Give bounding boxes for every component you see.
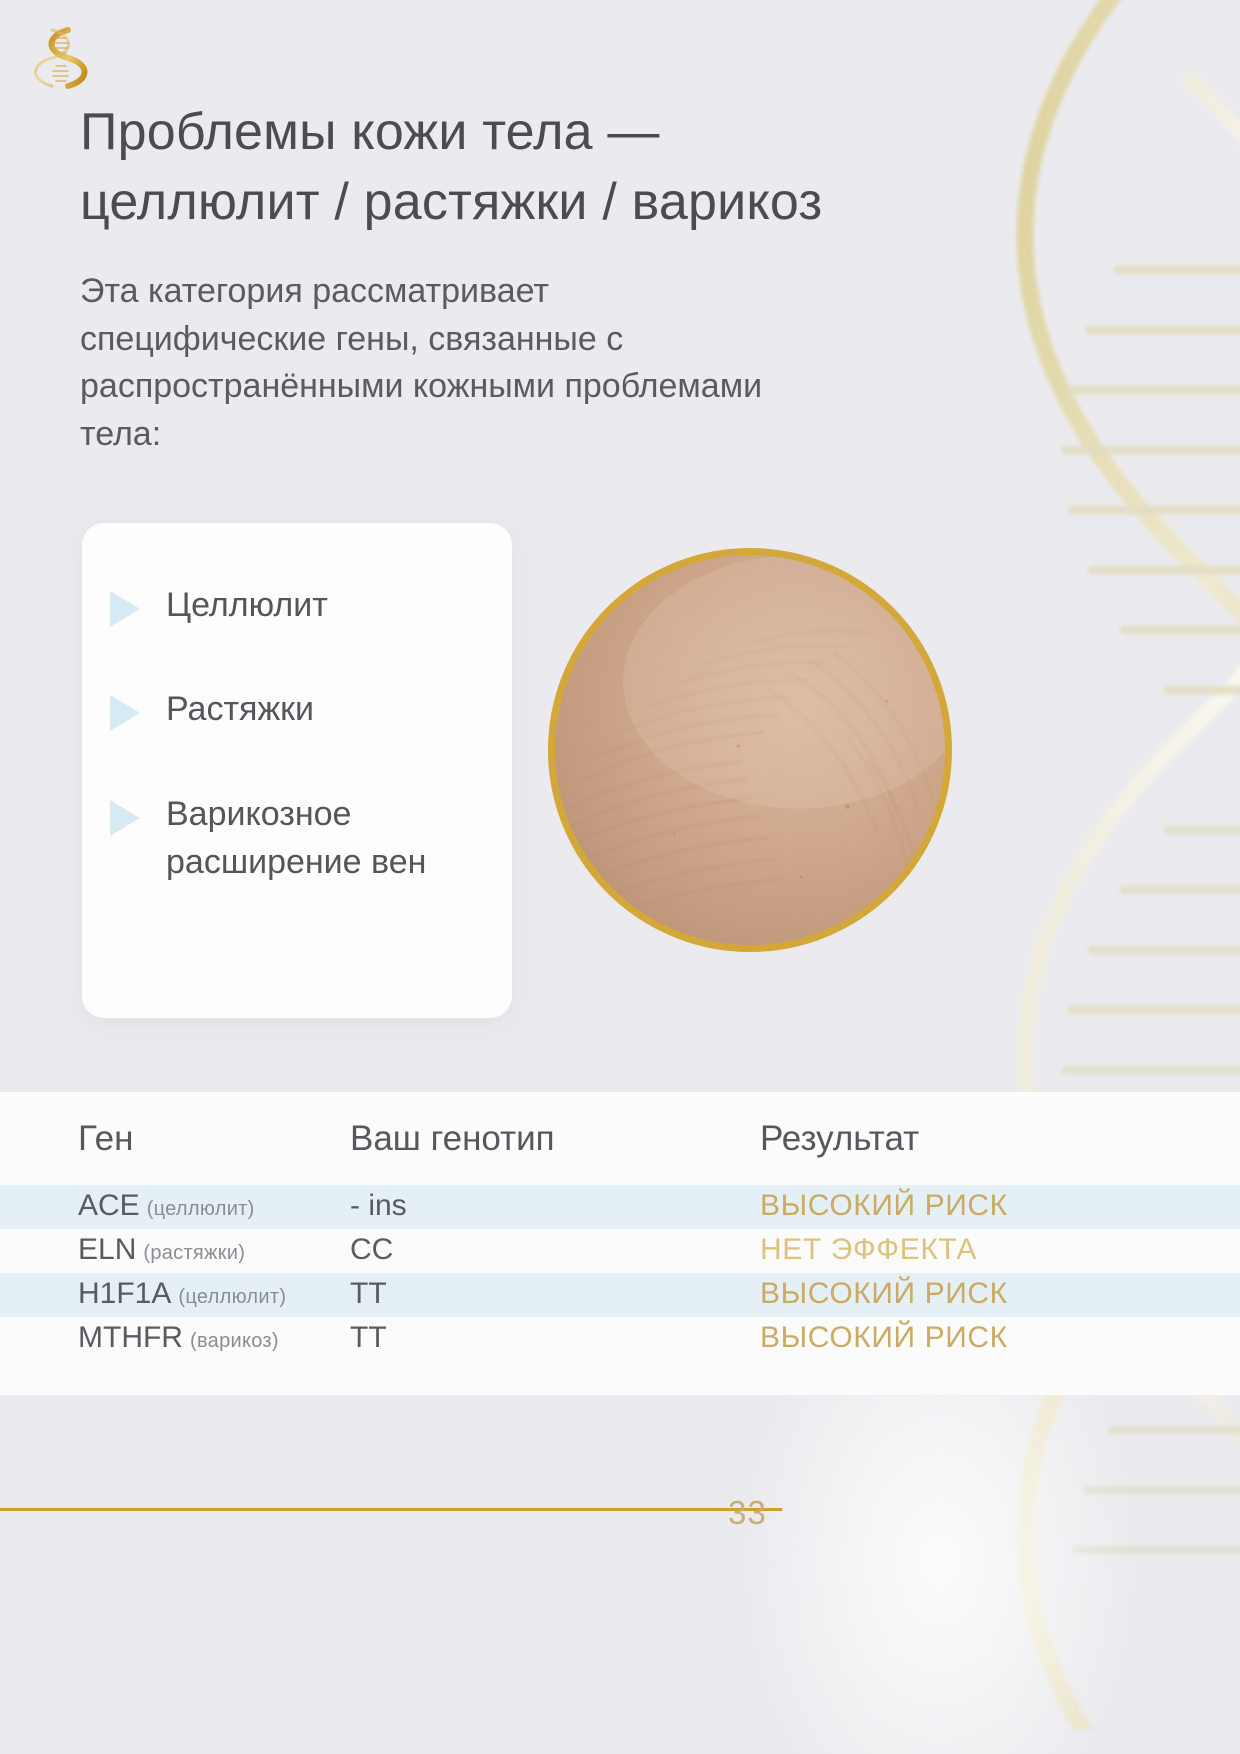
cellulite-skin-photo [548,548,952,952]
list-item: Варикозное расширение вен [110,790,478,887]
page-title-line-1: Проблемы кожи тела — [80,103,660,161]
list-item: Целлюлит [110,581,478,629]
list-item: Растяжки [110,685,478,733]
cell-result: ВЫСОКИЙ РИСК [760,1185,1240,1229]
gene-symbol: H1F1A [78,1277,171,1310]
triangle-right-icon [110,591,140,627]
genotype-table: Ген Ваш генотип Результат ACE(целлюлит) … [0,1092,1240,1361]
table-row: MTHFR(варикоз) TT ВЫСОКИЙ РИСК [0,1317,1240,1361]
table-row: H1F1A(целлюлит) TT ВЫСОКИЙ РИСК [0,1273,1240,1317]
table-header-row: Ген Ваш генотип Результат [0,1092,1240,1185]
table-body: ACE(целлюлит) - ins ВЫСОКИЙ РИСК ELN(рас… [0,1185,1240,1361]
background-blur-overlay [730,1354,1150,1754]
dna-helix-icon [32,22,88,92]
genotype-table-section: Ген Ваш генотип Результат ACE(целлюлит) … [0,1092,1240,1395]
cell-gene: MTHFR(варикоз) [0,1317,350,1361]
status-badge: ВЫСОКИЙ РИСК [760,1321,1008,1354]
cell-result: НЕТ ЭФФЕКТА [760,1229,1240,1273]
triangle-right-icon [110,695,140,731]
photo-image [555,555,945,945]
cell-genotype: TT [350,1317,760,1361]
footer-divider [0,1508,782,1511]
table-header: Ген Ваш генотип Результат [0,1092,1240,1185]
status-badge: ВЫСОКИЙ РИСК [760,1277,1008,1310]
gene-symbol: MTHFR [78,1321,183,1354]
page-title: Проблемы кожи тела — целлюлит / растяжки… [80,98,940,237]
cell-gene: ACE(целлюлит) [0,1185,350,1229]
gene-note: (растяжки) [143,1242,245,1264]
table-row: ACE(целлюлит) - ins ВЫСОКИЙ РИСК [0,1185,1240,1229]
column-header-genotype: Ваш генотип [350,1092,760,1185]
condition-list-card: Целлюлит Растяжки Варикозное расширение … [82,523,512,1018]
triangle-right-icon [110,800,140,836]
list-item-label: Целлюлит [166,581,328,629]
cell-result: ВЫСОКИЙ РИСК [760,1317,1240,1361]
column-header-gene: Ген [0,1092,350,1185]
cell-genotype: CC [350,1229,760,1273]
gene-note: (целлюлит) [178,1286,286,1308]
intro-paragraph: Эта категория рассматривает специфически… [80,268,800,458]
column-header-result: Результат [760,1092,1240,1185]
gene-note: (варикоз) [190,1330,279,1352]
cell-genotype: - ins [350,1185,760,1229]
cell-genotype: TT [350,1273,760,1317]
list-item-label: Варикозное расширение вен [166,790,478,887]
gene-symbol: ELN [78,1233,136,1266]
gene-note: (целлюлит) [147,1198,255,1220]
status-badge: ВЫСОКИЙ РИСК [760,1189,1008,1222]
table-bottom-padding [0,1361,1240,1395]
cell-gene: ELN(растяжки) [0,1229,350,1273]
status-badge: НЕТ ЭФФЕКТА [760,1233,977,1266]
page-number: 33 [728,1494,767,1532]
cell-gene: H1F1A(целлюлит) [0,1273,350,1317]
cell-result: ВЫСОКИЙ РИСК [760,1273,1240,1317]
page-title-line-2: целлюлит / растяжки / варикоз [80,173,822,231]
table-row: ELN(растяжки) CC НЕТ ЭФФЕКТА [0,1229,1240,1273]
report-page: Проблемы кожи тела — целлюлит / растяжки… [0,0,1240,1754]
gene-symbol: ACE [78,1189,140,1222]
list-item-label: Растяжки [166,685,314,733]
